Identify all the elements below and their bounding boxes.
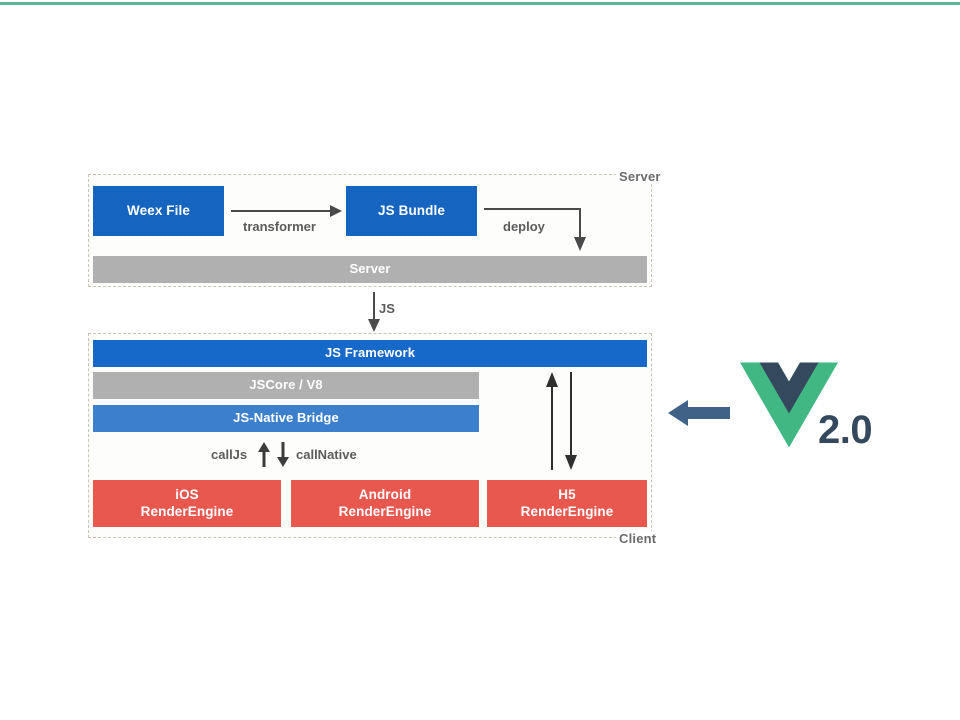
calljs-up-arrow-icon	[257, 442, 271, 467]
calljs-label: callJs	[211, 447, 247, 462]
jscore-v8-box: JSCore / V8	[93, 372, 479, 399]
js-framework-box: JS Framework	[93, 340, 647, 367]
h5-render-engine-box: H5 RenderEngine	[487, 480, 647, 527]
top-accent-rule	[0, 2, 960, 5]
js-native-bridge-box: JS-Native Bridge	[93, 405, 479, 432]
server-bar-label: Server	[349, 261, 390, 277]
js-framework-label: JS Framework	[325, 345, 415, 361]
transformer-arrow-icon	[231, 203, 343, 219]
ios-render-engine-box: iOS RenderEngine	[93, 480, 281, 527]
ios-render-engine-label-line1: iOS	[141, 487, 234, 504]
client-group-label: Client	[616, 531, 659, 546]
h5-render-engine-label-line1: H5	[521, 487, 614, 504]
callnative-down-arrow-icon	[276, 442, 290, 467]
h5-down-arrow-icon	[565, 372, 577, 470]
transformer-arrow-label: transformer	[243, 219, 316, 234]
vue-version-label: 2.0	[818, 410, 872, 450]
callnative-label: callNative	[296, 447, 357, 462]
h5-render-engine-label-line2: RenderEngine	[521, 504, 614, 521]
weex-file-box: Weex File	[93, 186, 224, 236]
android-render-engine-label-line2: RenderEngine	[339, 504, 432, 521]
js-native-bridge-label: JS-Native Bridge	[233, 410, 339, 426]
server-bar-box: Server	[93, 256, 647, 283]
js-bundle-box: JS Bundle	[346, 186, 477, 236]
android-render-engine-box: Android RenderEngine	[291, 480, 479, 527]
ios-render-engine-label-line2: RenderEngine	[141, 504, 234, 521]
deploy-arrow-label: deploy	[503, 219, 545, 234]
js-arrow-label: JS	[379, 301, 395, 316]
slide-canvas: Server Weex File JS Bundle Server transf…	[0, 0, 960, 720]
h5-up-arrow-icon	[546, 372, 558, 470]
android-render-engine-label-line1: Android	[339, 487, 432, 504]
server-group-label: Server	[616, 169, 664, 184]
jscore-v8-label: JSCore / V8	[249, 377, 322, 393]
js-bundle-label: JS Bundle	[378, 203, 445, 220]
vue-left-arrow-icon	[668, 398, 730, 428]
weex-file-label: Weex File	[127, 203, 190, 220]
